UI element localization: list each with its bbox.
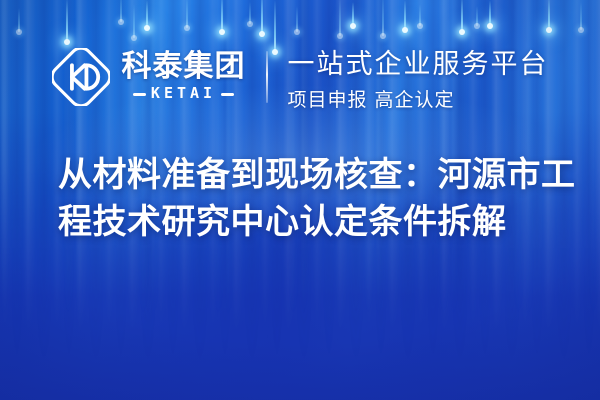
dash-left-icon — [133, 93, 146, 96]
page-title: 从材料准备到现场核查：河源市工 程技术研究中心认定条件拆解 — [58, 152, 552, 246]
brand-name-en-row: KETAI — [133, 87, 234, 102]
dash-right-icon — [221, 93, 234, 96]
page-title-line-1: 从材料准备到现场核查：河源市工 — [58, 152, 552, 199]
banner-header: 科泰集团 KETAI 一站式企业服务平台 项目申报 高企认定 — [0, 38, 600, 116]
brand-lockup: 科泰集团 KETAI — [52, 48, 246, 106]
page-title-line-2: 程技术研究中心认定条件拆解 — [58, 199, 552, 246]
ketai-diamond-kd-logo-icon — [52, 48, 110, 106]
header-divider — [266, 51, 268, 103]
brand-wordmark: 科泰集团 KETAI — [122, 52, 246, 102]
slogan-main: 一站式企业服务平台 — [288, 42, 549, 81]
brand-name-en: KETAI — [151, 86, 216, 101]
slogan-block: 一站式企业服务平台 项目申报 高企认定 — [288, 42, 549, 112]
slogan-sub: 项目申报 高企认定 — [288, 85, 549, 112]
brand-name-cn: 科泰集团 — [122, 52, 246, 82]
banner-stage: 科泰集团 KETAI 一站式企业服务平台 项目申报 高企认定 从材料准备到现场核… — [0, 0, 600, 400]
